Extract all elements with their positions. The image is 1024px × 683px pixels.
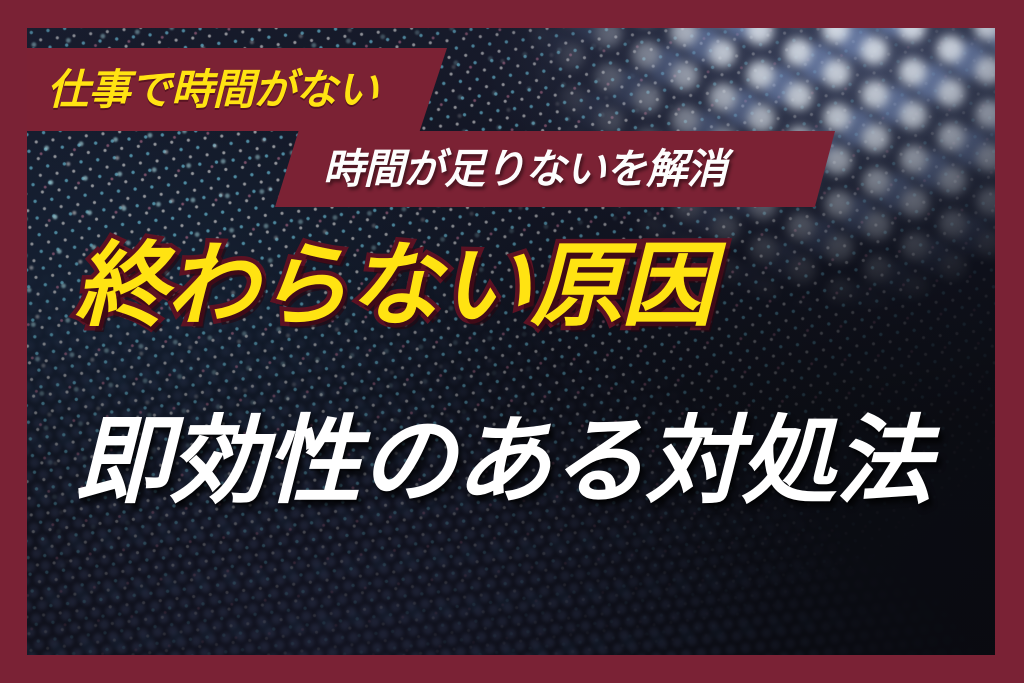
ribbon-second-label: 時間が足りないを解消 <box>323 149 727 190</box>
ribbon-second: 時間が足りないを解消 <box>275 131 835 207</box>
ribbon-top: 仕事で時間がない <box>27 48 447 131</box>
eyecatch-image: 仕事で時間がない 時間が足りないを解消 終わらない原因 即効性のある対処法 <box>0 0 1024 683</box>
background-photo: 仕事で時間がない 時間が足りないを解消 終わらない原因 即効性のある対処法 <box>27 28 995 655</box>
headline-secondary: 即効性のある対処法 <box>75 413 930 509</box>
ribbon-top-label: 仕事で時間がない <box>47 69 378 111</box>
headline-primary: 終わらない原因 <box>75 240 713 332</box>
